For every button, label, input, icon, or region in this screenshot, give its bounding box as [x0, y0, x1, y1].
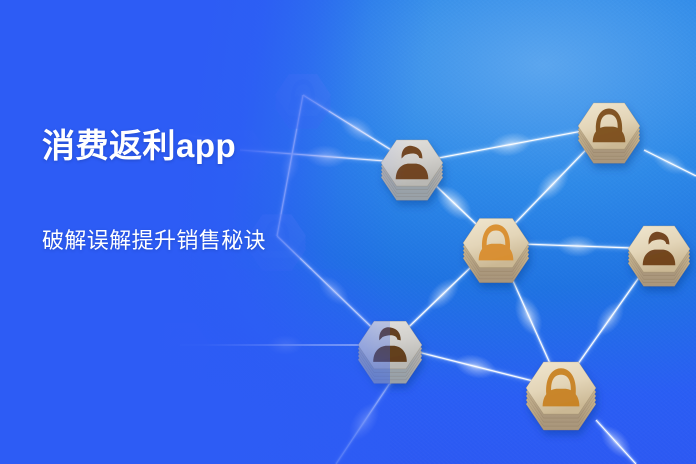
headline-block: 消费返利app 破解误解提升销售秘诀	[42, 126, 310, 259]
page-title: 消费返利app	[42, 126, 310, 166]
promo-banner: 消费返利app 破解误解提升销售秘诀	[0, 0, 696, 464]
bottom-color-wash	[0, 269, 390, 464]
page-subtitle: 破解误解提升销售秘诀	[42, 223, 310, 259]
